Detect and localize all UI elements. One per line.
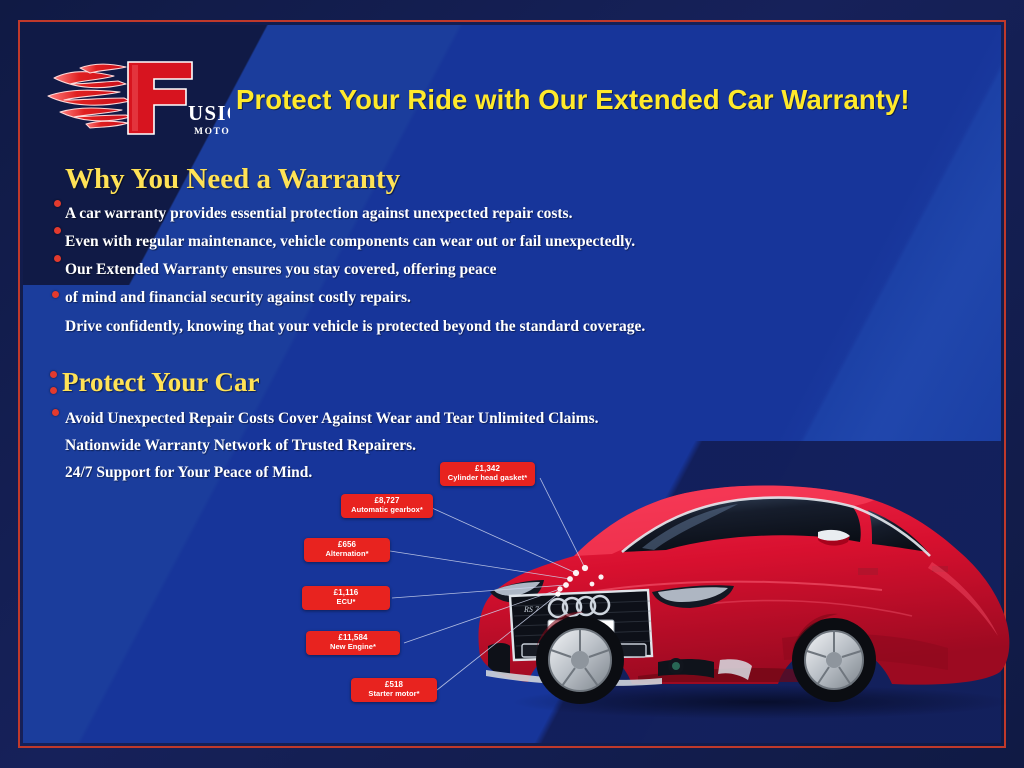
car-model-badge: RS 7 xyxy=(523,605,540,614)
callout-part: Alternation* xyxy=(310,550,384,558)
protect-line-2: Nationwide Warranty Network of Trusted R… xyxy=(65,437,416,455)
bullet-dot xyxy=(54,200,61,207)
callout-cylinder-head-gasket[interactable]: £1,342 Cylinder head gasket* xyxy=(440,462,535,486)
why-line-3: Our Extended Warranty ensures you stay c… xyxy=(65,261,497,279)
callout-part: ECU* xyxy=(308,598,384,606)
bullet-dot xyxy=(54,255,61,262)
section-heading-protect: Protect Your Car xyxy=(62,367,259,398)
bullet-dot xyxy=(50,371,57,378)
logo-subtext: MOTORS xyxy=(194,127,230,137)
bullet-dot xyxy=(52,291,59,298)
why-line-1: A car warranty provides essential protec… xyxy=(65,205,572,223)
callout-part: New Engine* xyxy=(312,643,394,651)
callout-ecu[interactable]: £1,116 ECU* xyxy=(302,586,390,610)
callout-new-engine[interactable]: £11,584 New Engine* xyxy=(306,631,400,655)
why-line-5: Drive confidently, knowing that your veh… xyxy=(65,318,645,336)
page-title: Protect Your Ride with Our Extended Car … xyxy=(236,84,910,116)
section-heading-why: Why You Need a Warranty xyxy=(65,163,400,196)
flaming-f-logo: USION MOTORS xyxy=(40,48,230,140)
bullet-dot xyxy=(50,387,57,394)
callout-part: Automatic gearbox* xyxy=(347,506,427,514)
protect-line-1: Avoid Unexpected Repair Costs Cover Agai… xyxy=(65,410,599,428)
callout-automatic-gearbox[interactable]: £8,727 Automatic gearbox* xyxy=(341,494,433,518)
poster-slide: USION MOTORS Protect Your Ride with Our … xyxy=(0,0,1024,768)
protect-line-3: 24/7 Support for Your Peace of Mind. xyxy=(65,464,312,482)
bullet-dot xyxy=(52,409,59,416)
bullet-dot xyxy=(54,227,61,234)
logo-word: USION xyxy=(188,101,230,125)
why-line-2: Even with regular maintenance, vehicle c… xyxy=(65,233,635,251)
callout-part: Cylinder head gasket* xyxy=(446,474,529,482)
callout-part: Starter motor* xyxy=(357,690,431,698)
callout-starter-motor[interactable]: £518 Starter motor* xyxy=(351,678,437,702)
why-line-4: of mind and financial security against c… xyxy=(65,289,411,307)
callout-alternator[interactable]: £656 Alternation* xyxy=(304,538,390,562)
red-audi-car-image: RS 7 FUSION MOTORS quattro xyxy=(462,470,1024,728)
